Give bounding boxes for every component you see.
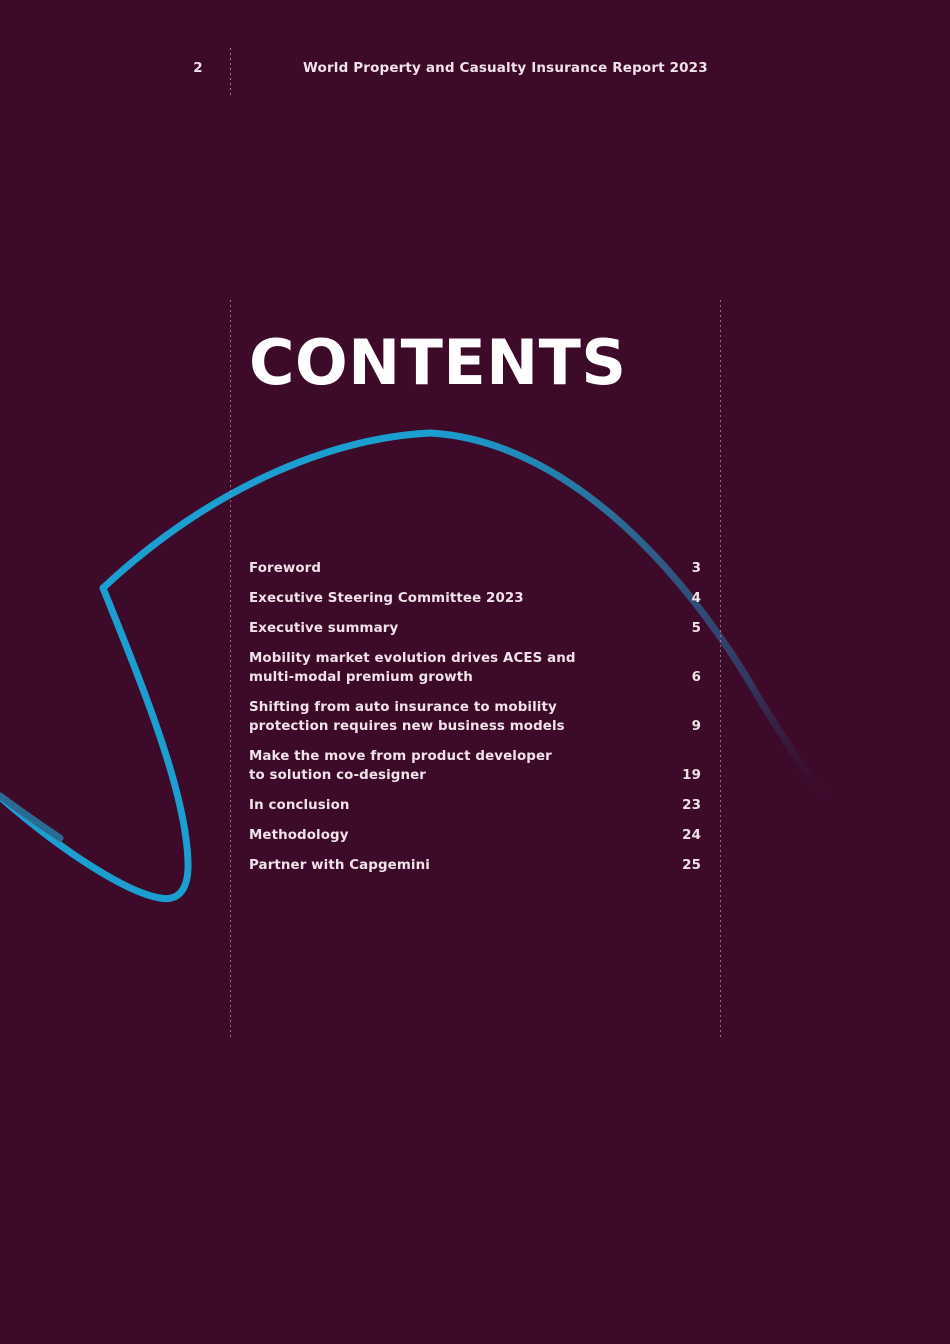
toc-entry-page: 4 bbox=[679, 589, 701, 608]
page-header: 2 World Property and Casualty Insurance … bbox=[0, 0, 950, 140]
toc-entry[interactable]: Shifting from auto insurance to mobility… bbox=[249, 698, 701, 736]
toc-entry-label: Partner with Capgemini bbox=[249, 856, 430, 875]
header-page-number: 2 bbox=[180, 60, 216, 76]
toc-entry-label: Make the move from product developer to … bbox=[249, 747, 552, 785]
toc-entry-label: Methodology bbox=[249, 826, 349, 845]
document-page: 2 World Property and Casualty Insurance … bbox=[0, 0, 950, 1344]
toc-entry-page: 9 bbox=[679, 717, 701, 736]
swoosh-loop bbox=[0, 588, 188, 899]
toc-entry-label: Foreword bbox=[249, 559, 321, 578]
swoosh-left-tail bbox=[0, 796, 60, 838]
toc-entry-page: 6 bbox=[679, 668, 701, 687]
toc-entry[interactable]: Methodology 24 bbox=[249, 826, 701, 845]
toc-entry[interactable]: Make the move from product developer to … bbox=[249, 747, 701, 785]
toc-entry-page: 24 bbox=[679, 826, 701, 845]
toc-entry-page: 3 bbox=[679, 559, 701, 578]
toc-entry-label: Mobility market evolution drives ACES an… bbox=[249, 649, 576, 687]
toc-entry[interactable]: Executive Steering Committee 2023 4 bbox=[249, 589, 701, 608]
toc-entry-page: 5 bbox=[679, 619, 701, 638]
toc-entry-page: 23 bbox=[679, 796, 701, 815]
toc-entry[interactable]: Executive summary 5 bbox=[249, 619, 701, 638]
toc-entry-label: Executive summary bbox=[249, 619, 398, 638]
toc-entry[interactable]: In conclusion 23 bbox=[249, 796, 701, 815]
toc-entry[interactable]: Mobility market evolution drives ACES an… bbox=[249, 649, 701, 687]
toc-entry-label: Executive Steering Committee 2023 bbox=[249, 589, 524, 608]
report-title: World Property and Casualty Insurance Re… bbox=[303, 60, 708, 76]
table-of-contents: Foreword 3 Executive Steering Committee … bbox=[249, 559, 701, 886]
toc-entry[interactable]: Foreword 3 bbox=[249, 559, 701, 578]
toc-entry-page: 19 bbox=[679, 766, 701, 785]
toc-entry[interactable]: Partner with Capgemini 25 bbox=[249, 856, 701, 875]
page-title: CONTENTS bbox=[249, 332, 627, 394]
header-divider bbox=[230, 48, 231, 96]
guide-line-left bbox=[230, 300, 231, 1040]
toc-entry-label: Shifting from auto insurance to mobility… bbox=[249, 698, 565, 736]
toc-entry-page: 25 bbox=[679, 856, 701, 875]
guide-line-right bbox=[720, 300, 721, 1040]
toc-entry-label: In conclusion bbox=[249, 796, 350, 815]
